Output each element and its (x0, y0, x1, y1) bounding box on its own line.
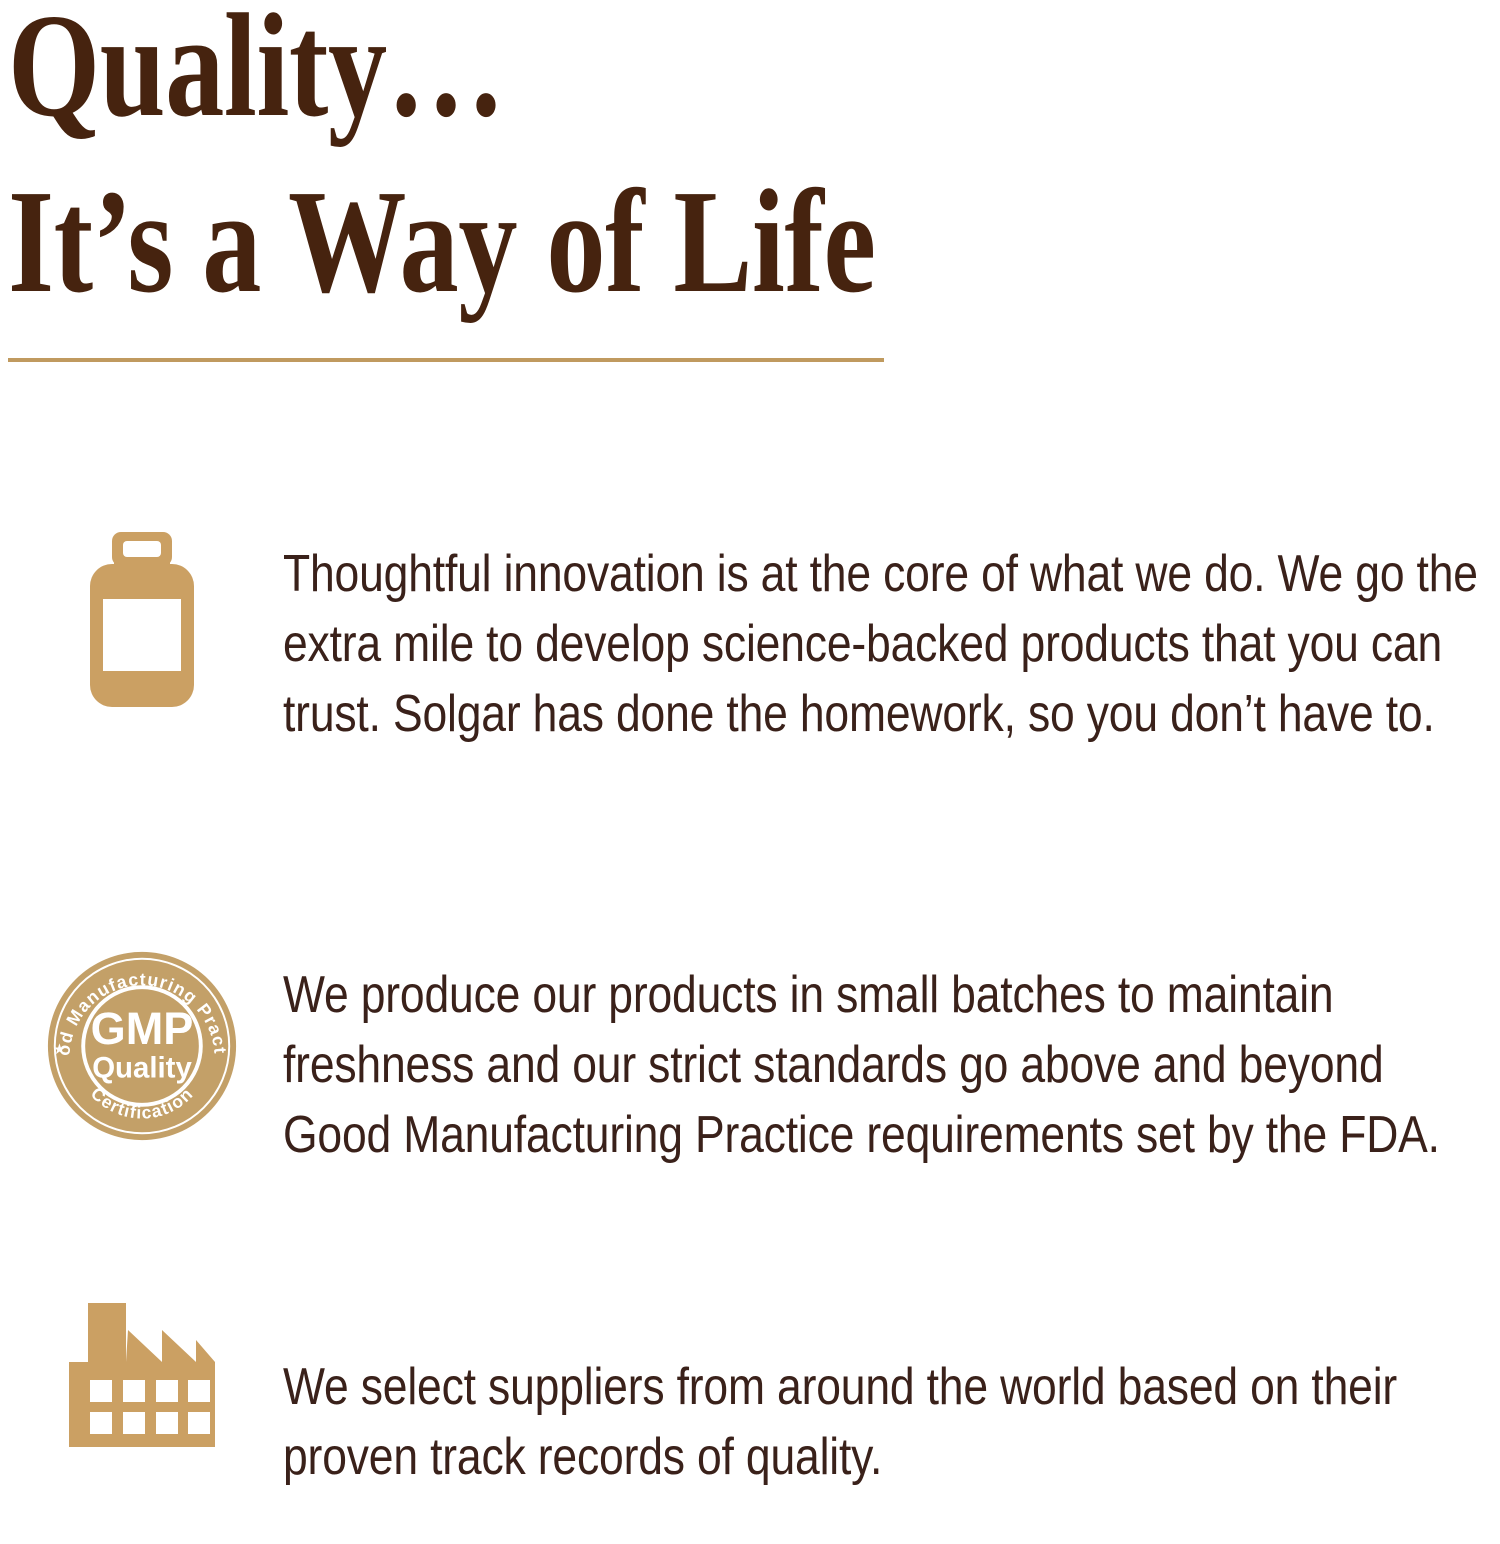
quality-promise-panel: Quality… It’s a Way of Life Thoughtful i… (0, 0, 1500, 1473)
factory-icon-cell (0, 1300, 283, 1450)
svg-text:★: ★ (52, 1041, 65, 1058)
factory-icon (66, 1300, 218, 1450)
svg-text:Quality: Quality (92, 1051, 192, 1084)
svg-text:GMP: GMP (90, 1003, 193, 1054)
bottle-text-cell: Thoughtful innovation is at the core of … (283, 487, 1500, 801)
feature-text-small-batches: We produce our products in small batches… (283, 960, 1490, 1170)
supplement-bottle-icon (86, 532, 198, 707)
feature-row-bottle: Thoughtful innovation is at the core of … (0, 487, 1500, 801)
feature-text-innovation: Thoughtful innovation is at the core of … (283, 539, 1490, 749)
headline-line-1: Quality… (8, 0, 968, 140)
feature-text-suppliers: We select suppliers from around the worl… (283, 1352, 1490, 1492)
headline-line-2: It’s a Way of Life (8, 168, 968, 316)
feature-row-gmp: Good Manufacturing Practice Certificatio… (0, 908, 1500, 1222)
gmp-quality-seal-icon: Good Manufacturing Practice Certificatio… (44, 948, 240, 1144)
page-title: Quality… It’s a Way of Life (8, 0, 1208, 316)
gmp-icon-cell: Good Manufacturing Practice Certificatio… (0, 908, 283, 1144)
bottle-icon-cell (0, 487, 283, 707)
factory-text-cell: We select suppliers from around the worl… (283, 1300, 1500, 1544)
divider-rule (8, 358, 884, 362)
gmp-text-cell: We produce our products in small batches… (283, 908, 1500, 1222)
feature-row-factory: We select suppliers from around the worl… (0, 1300, 1500, 1544)
